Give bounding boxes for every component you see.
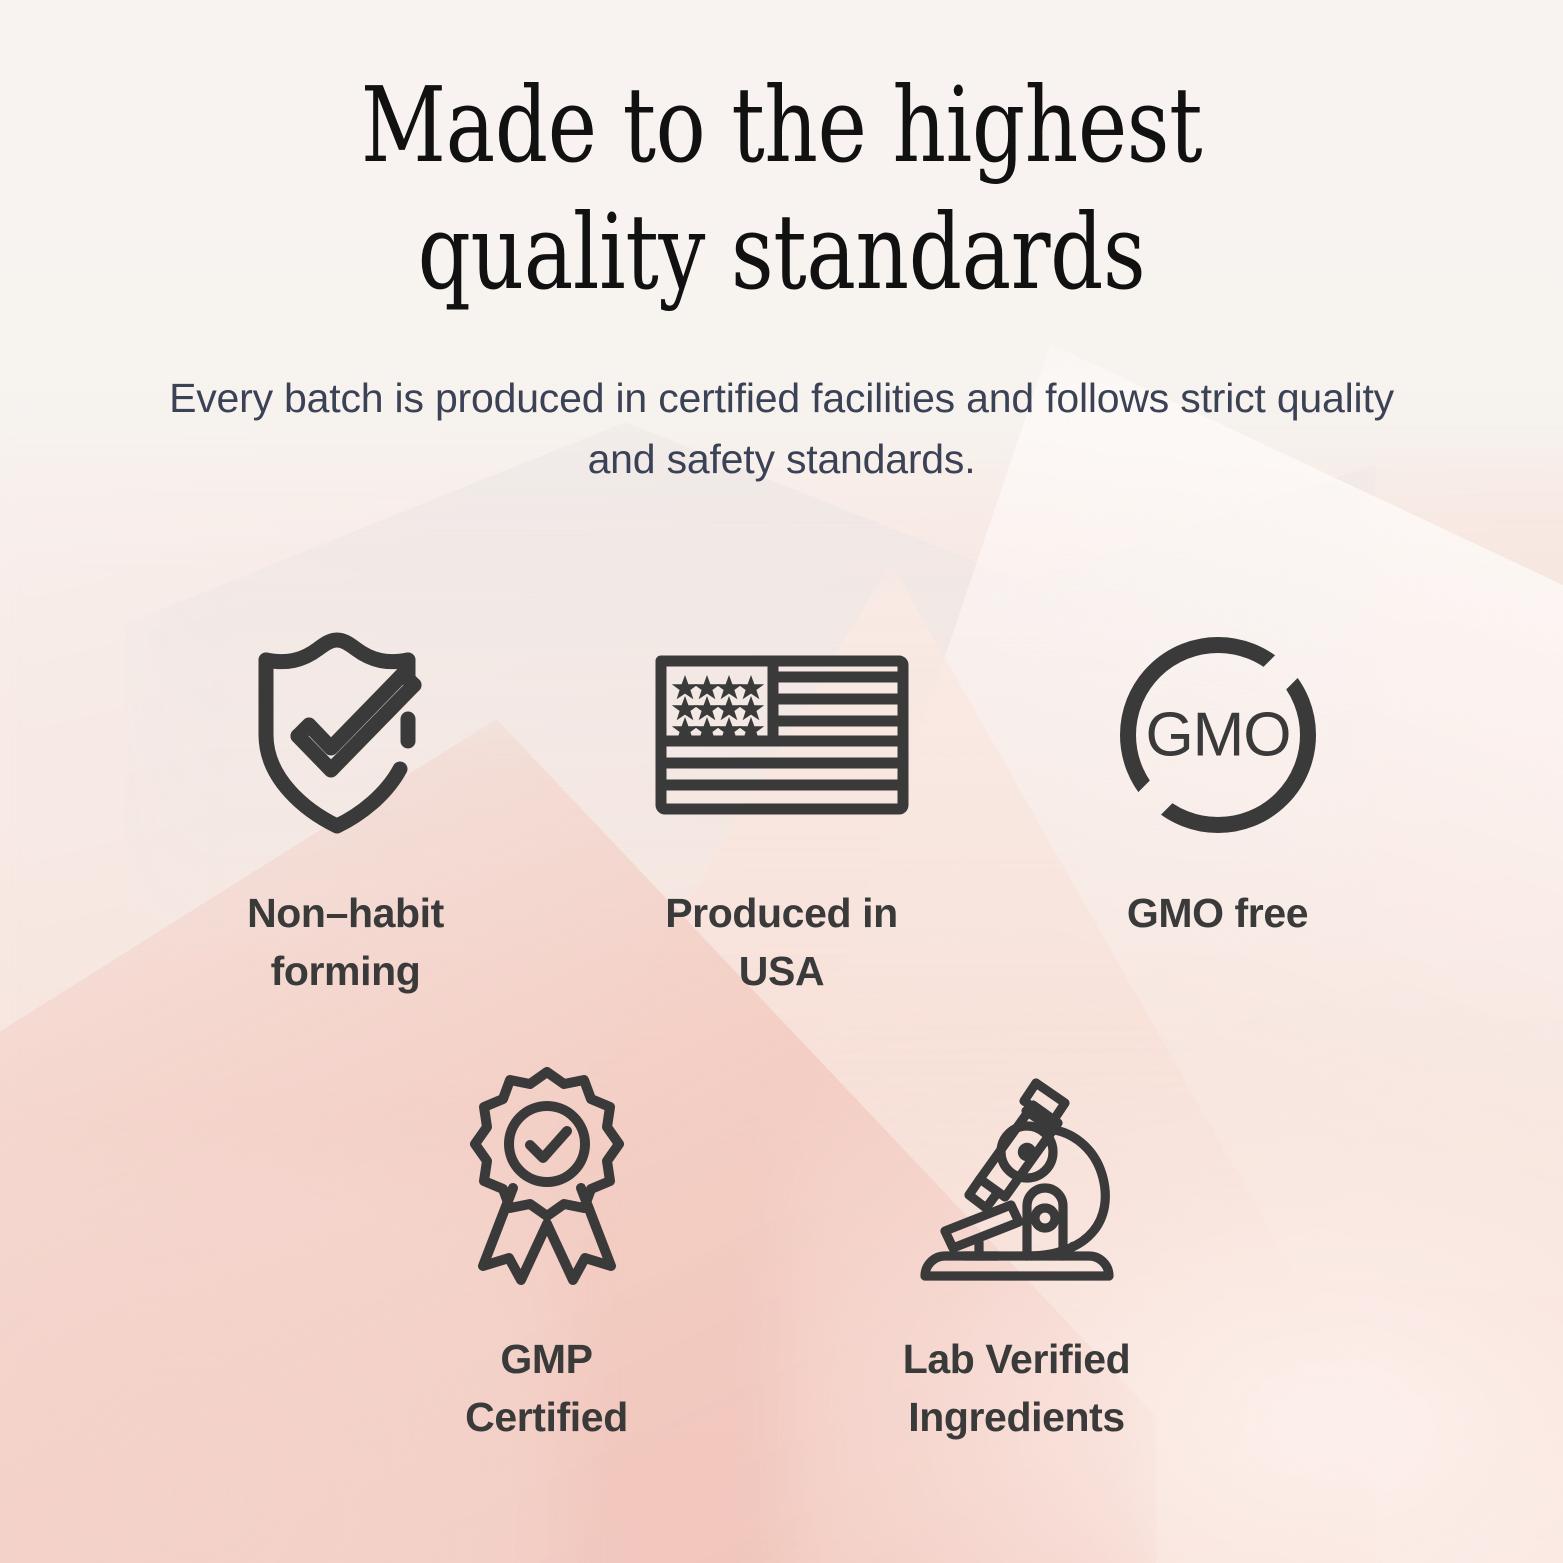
award-ribbon-icon (459, 1060, 635, 1290)
badge-label-line-1: GMO free (1127, 890, 1308, 936)
badge-label-line-1: Produced in (665, 890, 898, 936)
badge-row-bottom: GMP Certified (0, 1060, 1563, 1446)
shield-check-icon (246, 620, 446, 850)
badge-label-line-1: Non–habit (247, 890, 444, 936)
badge-label: Lab Verified Ingredients (903, 1330, 1131, 1446)
page-subtitle: Every batch is produced in certified fac… (162, 368, 1402, 489)
page-title: Made to the highest quality standards (156, 62, 1406, 316)
badge-label-line-2: Ingredients (908, 1394, 1125, 1440)
badge-lab-verified-ingredients: Lab Verified Ingredients (782, 1060, 1252, 1446)
badge-label-line-1: GMP (500, 1336, 592, 1382)
microscope-icon (907, 1060, 1127, 1290)
badge-gmo-free: GMO GMO free (1000, 620, 1436, 1000)
badge-row-top: Non–habit forming (0, 620, 1563, 1000)
badge-label-line-2: USA (739, 948, 824, 994)
badge-gmp-certified: GMP Certified (312, 1060, 782, 1446)
no-gmo-icon: GMO (1112, 620, 1324, 850)
badge-label: GMO free (1127, 884, 1308, 942)
badge-non-habit-forming: Non–habit forming (128, 620, 564, 1000)
badge-produced-in-usa: Produced in USA (564, 620, 1000, 1000)
badge-label-line-2: forming (271, 948, 421, 994)
badge-label: GMP Certified (465, 1330, 628, 1446)
page-title-line-2: quality standards (418, 191, 1146, 313)
badge-label-line-1: Lab Verified (903, 1336, 1131, 1382)
badge-label-line-2: Certified (465, 1394, 628, 1440)
badge-label: Non–habit forming (247, 884, 444, 1000)
usa-flag-icon (655, 620, 909, 850)
quality-standards-section: Made to the highest quality standards Ev… (0, 0, 1563, 1563)
page-title-line-1: Made to the highest (361, 64, 1202, 186)
svg-text:GMO: GMO (1145, 701, 1290, 770)
badge-label: Produced in USA (665, 884, 898, 1000)
